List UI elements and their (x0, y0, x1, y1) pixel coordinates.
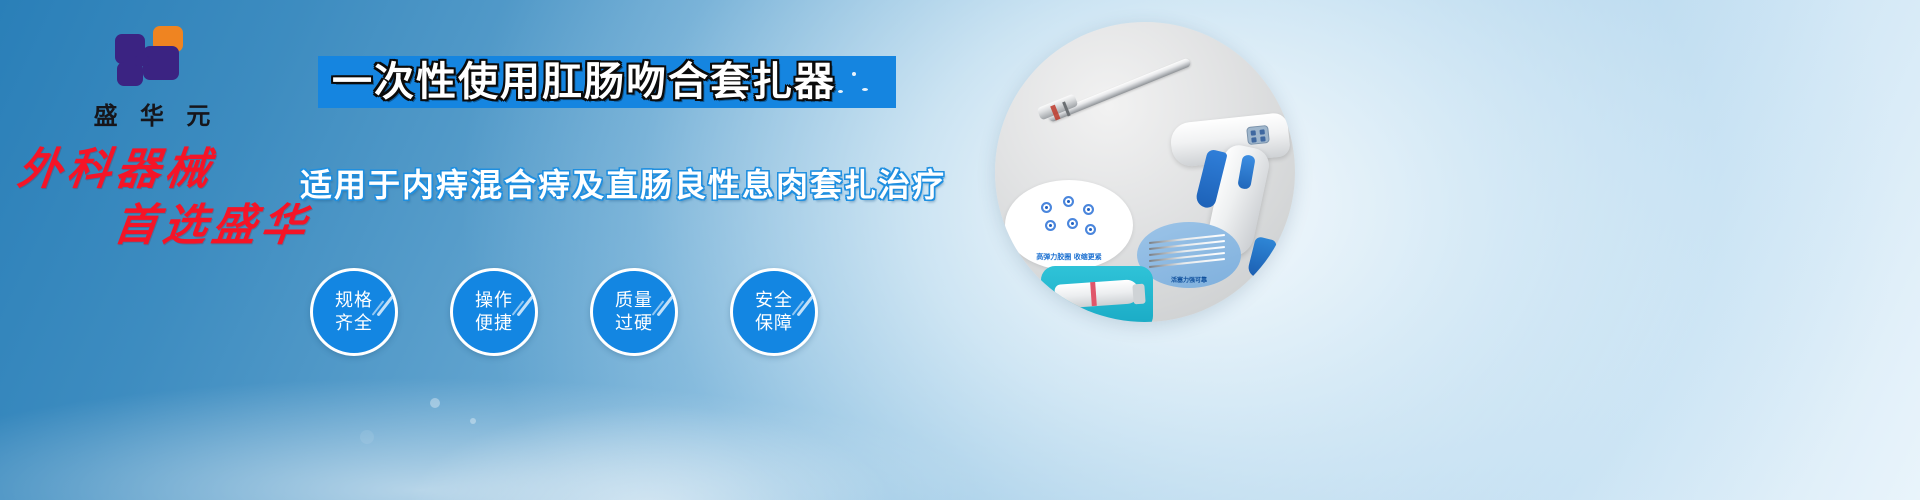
brand-logo[interactable]: 盛 华 元 (62, 26, 242, 131)
rubber-bands-inset: 高弹力胶圈 收缩更紧 (1005, 180, 1133, 270)
page-subtitle: 适用于内痔混合痔及直肠良性息肉套扎治疗 (300, 160, 946, 206)
brand-name: 盛 华 元 (62, 96, 242, 131)
badge-label: 规格 齐全 (313, 271, 395, 353)
badge-label-line1: 操作 (475, 289, 513, 312)
promo-banner: 盛 华 元 外科器械 首选盛华 一次性使用肛肠吻合套扎器 适用于内痔混合痔及直肠… (0, 0, 1920, 500)
feature-badge-specs[interactable]: 规格 齐全 (310, 268, 398, 356)
feature-badge-safety[interactable]: 安全 保障 (730, 268, 818, 356)
rubber-band-icon (1085, 224, 1096, 235)
rubber-bands-inset-label: 高弹力胶圈 收缩更紧 (1005, 252, 1133, 262)
badge-label-line2: 齐全 (335, 312, 373, 335)
badge-label: 操作 便捷 (453, 271, 535, 353)
feature-badge-quality[interactable]: 质量 过硬 (590, 268, 678, 356)
sparkle-icon (852, 72, 856, 76)
sparkle-icon (838, 90, 843, 93)
background-glow (0, 360, 1920, 500)
background-glow-secondary (300, 360, 1000, 500)
product-image[interactable]: 高弹力胶圈 收缩更紧 活塞力强可靠 (995, 22, 1295, 322)
badge-label-line2: 保障 (755, 312, 793, 335)
calligraphy-slogan: 外科器械 首选盛华 (18, 148, 348, 248)
rubber-band-icon (1063, 196, 1074, 207)
rubber-band-icon (1083, 204, 1094, 215)
badge-label-line2: 便捷 (475, 312, 513, 335)
sparkle-icon (862, 88, 868, 91)
rubber-band-icon (1041, 202, 1052, 213)
page-title: 一次性使用肛肠吻合套扎器 (332, 56, 892, 108)
shenghuayuan-blocks-logo-icon (115, 26, 189, 88)
badge-label: 质量 过硬 (593, 271, 675, 353)
badge-label-line1: 安全 (755, 289, 793, 312)
rubber-band-icon (1045, 220, 1056, 231)
cylinder-inset (1041, 266, 1153, 322)
badge-label-line2: 过硬 (615, 312, 653, 335)
feature-badge-operation[interactable]: 操作 便捷 (450, 268, 538, 356)
slogan-line-2: 首选盛华 (15, 204, 350, 248)
cylinder-body (1054, 279, 1139, 309)
badge-label: 安全 保障 (733, 271, 815, 353)
decorative-dot (430, 398, 440, 408)
decorative-dot (470, 418, 476, 424)
rubber-band-icon (1067, 218, 1078, 229)
feature-badge-list: 规格 齐全 操作 便捷 质量 过硬 安全 保障 (310, 268, 870, 363)
instrument-control-pad (1246, 125, 1270, 145)
badge-label-line1: 规格 (335, 289, 373, 312)
cylinder-cap (1132, 284, 1145, 305)
badge-label-line1: 质量 (615, 289, 653, 312)
decorative-dot (360, 430, 374, 444)
